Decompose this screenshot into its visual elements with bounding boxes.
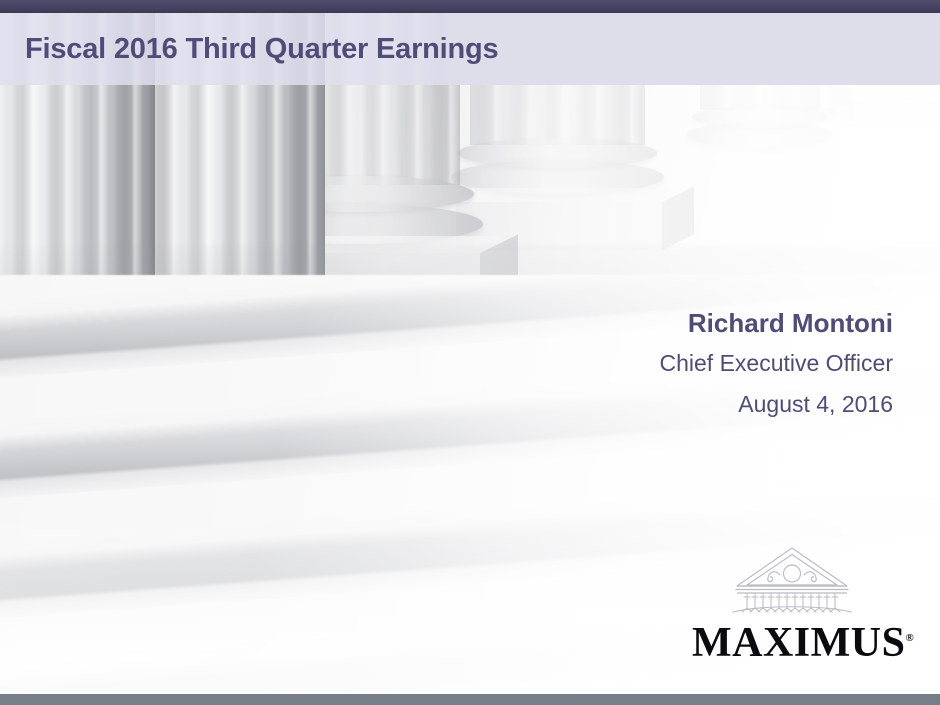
slide-title: Fiscal 2016 Third Quarter Earnings (25, 33, 498, 66)
presenter-title: Chief Executive Officer (659, 343, 893, 384)
registered-trademark-icon: ® (905, 632, 913, 644)
presenter-block: Richard Montoni Chief Executive Officer … (659, 303, 893, 425)
title-band: Fiscal 2016 Third Quarter Earnings (0, 13, 940, 85)
maximus-logo: MAXIMUS® (692, 545, 892, 665)
presentation-slide: Fiscal 2016 Third Quarter Earnings Richa… (0, 0, 940, 705)
maximus-wordmark-text: MAXIMUS (692, 620, 905, 666)
greek-temple-pediment-icon (731, 545, 853, 613)
top-accent-bar (0, 0, 940, 13)
bottom-accent-bar (0, 694, 940, 705)
presenter-name: Richard Montoni (659, 303, 893, 343)
maximus-wordmark: MAXIMUS® (692, 616, 914, 665)
title-band-solid-fill (450, 13, 940, 85)
presentation-date: August 4, 2016 (659, 384, 893, 425)
